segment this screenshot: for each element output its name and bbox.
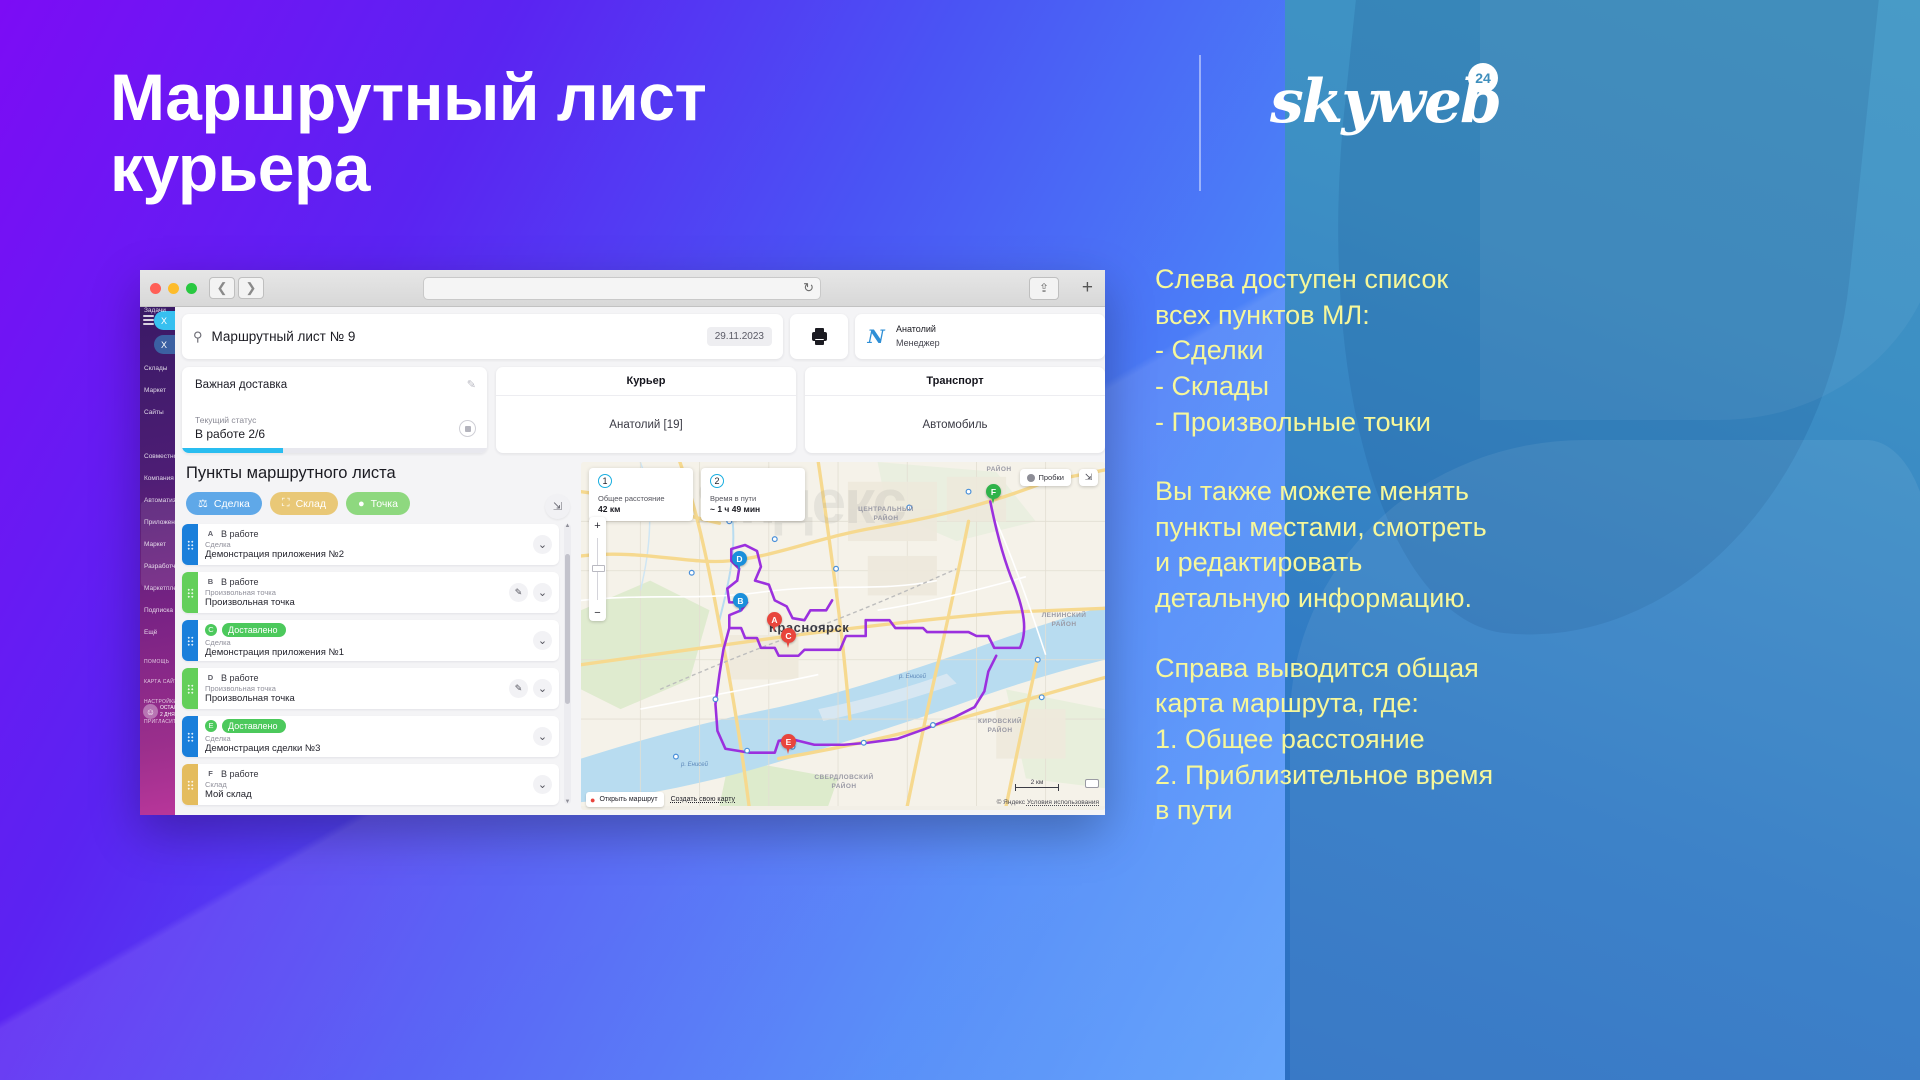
stop-icon[interactable] [459,420,476,437]
list-item[interactable]: A В работе Сделка Демонстрация приложени… [182,524,559,565]
logo-badge: 24 [1468,63,1498,93]
drag-handle[interactable] [182,620,198,661]
drag-handle[interactable] [182,764,198,805]
travel-time-value: ~ 1 ч 49 мин [710,504,796,514]
list-item-header: F В работе [205,769,533,779]
drag-handle[interactable] [182,572,198,613]
list-item-body: C Доставлено Сделка Демонстрация приложе… [198,623,533,658]
points-filters: ⚖ Сделка ⛶ Склад ● Точка [182,492,572,515]
scroll-up-arrow[interactable]: ▲ [564,523,571,529]
list-item-body: F В работе Склад Мой склад [198,769,533,801]
document-title-card: ⚲ Маршрутный лист № 9 29.11.2023 [182,314,783,359]
list-item-name: Демонстрация приложения №2 [205,549,533,560]
copy-line-11: карта маршрута, где: [1155,686,1555,722]
travel-time-badge: 2 Время в пути ~ 1 ч 49 мин [701,468,805,521]
copy-spacer-2 [1155,617,1555,651]
map-pin-f[interactable]: F [986,484,1001,504]
brand-logo: skyweb 24 [1270,57,1480,147]
transport-header: Транспорт [805,367,1105,396]
list-item-name: Демонстрация приложения №1 [205,647,533,658]
maximize-window-button[interactable] [186,283,197,294]
progress-bar [182,448,487,453]
points-heading: Пункты маршрутного листа [182,462,572,492]
points-panel: Пункты маршрутного листа ⚖ Сделка ⛶ Скла… [182,462,572,810]
drag-handle[interactable] [182,668,198,709]
sidebar-item-company[interactable]: Компания [144,475,174,482]
document-date-badge[interactable]: 29.11.2023 [707,327,772,346]
sidebar-item-marketplace[interactable]: Маркетплейс [144,585,175,592]
sidebar-caption-sitemap[interactable]: КАРТА САЙТА [144,679,175,685]
list-item-type: Произвольная точка [205,684,509,693]
minimize-window-button[interactable] [168,283,179,294]
printer-icon [812,328,827,345]
drag-handle[interactable] [182,524,198,565]
browser-window: ❮ ❯ ↻ ⇪ + X X Склады Маркет Сайты Задачи… [140,270,1105,815]
transport-card: Транспорт Автомобиль [805,367,1105,453]
status-value: В работе 2/6 [195,427,474,441]
user-name: Анатолий [896,324,936,334]
copy-line-13: 2. Приблизительное время [1155,758,1555,794]
list-item-name: Произвольная точка [205,693,509,704]
list-item-header: B В работе [205,577,509,587]
trial-line-1: ОСТАЛОСЬ [160,705,175,711]
copy-line-12: 1. Общее расстояние [1155,722,1555,758]
deal-icon: ⚖ [198,497,208,510]
chevron-down-icon[interactable]: ⌄ [533,679,552,698]
list-item-type: Склад [205,780,533,789]
copy-line-14: в пути [1155,793,1555,829]
hamburger-icon[interactable] [143,315,154,327]
map-attribution: © Яндекс Условия использования [997,799,1099,806]
filter-chip-warehouse-label: Склад [296,498,326,510]
total-distance-label: Общее расстояние [598,494,684,503]
chevron-down-icon[interactable]: ⌄ [533,631,552,650]
scrollbar-thumb [565,554,570,704]
chevron-down-icon[interactable]: ⌄ [533,583,552,602]
copy-line-9: детальную информацию. [1155,581,1555,617]
status-badge: В работе [221,673,259,683]
list-item[interactable]: C Доставлено Сделка Демонстрация приложе… [182,620,559,661]
map-scale-line [1015,787,1059,788]
list-item-letter: B [205,577,216,586]
map-pin-c-tail [786,640,791,648]
sidebar-item-market[interactable]: Маркет [144,387,166,394]
slide-description: Слева доступен список всех пунктов МЛ: -… [1155,262,1555,829]
map-pin-d[interactable]: D [732,551,747,571]
river-label-1: р. Енисей [681,762,708,768]
status-badge: Доставлено [222,623,286,637]
list-item-type: Сделка [205,734,533,743]
document-title: Маршрутный лист № 9 [212,329,356,344]
list-item-letter: F [205,769,216,778]
chevron-down-icon[interactable]: ⌄ [533,727,552,746]
list-item[interactable]: D В работе Произвольная точка Произвольн… [182,668,559,709]
region-label-leninsky: ЛЕНИНСКИЙ РАЙОН [1033,612,1095,630]
map-pin-d-tail [737,563,742,571]
region-label-kirovsky: КИРОВСКИЙ РАЙОН [969,718,1031,736]
skyweb-mark-icon: N [865,326,887,348]
status-label: Текущий статус [195,415,474,425]
user-role: Менеджер [896,338,940,348]
courier-value: Анатолий [19] [496,396,796,453]
copy-line-1: Слева доступен список [1155,262,1555,298]
map-fullscreen-button[interactable]: ⇲ [1079,469,1098,486]
list-item-type: Сделка [205,540,533,549]
list-item-body: A В работе Сделка Демонстрация приложени… [198,529,533,561]
region-label-central: ЦЕНТРАЛЬНЫЙ РАЙОН [851,506,921,524]
browser-chrome: ❮ ❯ ↻ ⇪ + [140,270,1105,307]
river-label-2: р. Енисей [899,674,926,680]
pencil-icon[interactable]: ✎ [467,378,476,391]
map-pin-c[interactable]: C [781,628,796,648]
copy-line-10: Справа выводится общая [1155,651,1555,687]
sidebar-item-more[interactable]: Ещё [144,629,157,636]
expand-icon[interactable]: ⇲ [545,494,570,519]
list-item-actions: ⌄ [533,631,559,650]
traffic-toggle-label: Пробки [1039,473,1065,482]
region-label-raion: РАЙОН [979,466,1019,475]
map-terms-link[interactable]: Условия использования [1027,799,1099,806]
document-toolbar: ⚲ Маршрутный лист № 9 29.11.2023 N Анато… [182,314,1105,359]
list-item-type: Произвольная точка [205,588,509,597]
list-item-actions: ✎ ⌄ [509,583,559,602]
address-bar[interactable]: ↻ [423,277,821,300]
map-scale-label: 2 км [1031,779,1044,786]
delivery-title: Важная доставка [195,379,474,391]
user-meta: Анатолий Менеджер [896,323,940,350]
map-zoom-control[interactable]: + − [589,517,606,621]
delivery-card: Важная доставка ✎ Текущий статус В работ… [182,367,487,453]
copy-line-8: и редактировать [1155,545,1555,581]
zoom-out-button[interactable]: − [589,604,606,621]
reload-icon[interactable]: ↻ [803,280,814,296]
page-title: Маршрутный лист курьера [110,62,870,205]
list-item-letter: D [205,673,216,682]
route-map[interactable]: Яндекс Красноярск ЦЕНТРАЛЬНЫЙ РАЙОН ЛЕНИ… [581,462,1105,810]
sidebar-caption-invite[interactable]: ПРИГЛАСИТЬ [144,719,175,725]
sidebar-item-subscription[interactable]: Подписка [144,607,173,614]
sidebar-caption-help[interactable]: ПОМОЩЬ [144,659,169,665]
map-pin-b-tail [738,605,743,613]
copy-line-3: - Сделки [1155,333,1555,369]
map-pin-icon: ● [358,498,365,510]
create-own-map-link[interactable]: Создать свою карту [671,796,735,803]
pencil-icon[interactable]: ✎ [509,583,528,602]
sidebar-item-tasks[interactable]: Задачи [144,307,166,314]
back-button[interactable]: ❮ [209,277,235,299]
list-item-letter: A [205,529,216,538]
print-button[interactable] [790,314,848,359]
sidebar-item-developers[interactable]: Разработчикам [144,563,175,570]
status-badge: В работе [221,529,259,539]
window-controls [150,283,197,294]
filter-chip-point-label: Точка [371,498,398,510]
open-route-label: Открыть маршрут [599,796,657,803]
map-scale: 2 км [1015,779,1059,788]
total-distance-badge: 1 Общее расстояние 42 км [589,468,693,521]
copy-spacer-1 [1155,440,1555,474]
keyboard-shortcut-icon[interactable] [1085,779,1099,788]
zoom-in-button[interactable]: + [589,517,606,534]
app-main: ⚲ Маршрутный лист № 9 29.11.2023 N Анато… [175,307,1105,815]
courier-header: Курьер [496,367,796,396]
list-item-body: E Доставлено Сделка Демонстрация сделки … [198,719,533,754]
sidebar-item-warehouses[interactable]: Склады [144,365,167,372]
map-pin-e-tail [786,746,791,754]
copy-line-5: - Произвольные точки [1155,405,1555,441]
list-item-actions: ⌄ [533,727,559,746]
new-tab-button[interactable]: + [1082,277,1093,299]
map-attribution-text: © Яндекс [997,799,1025,806]
pencil-icon[interactable]: ✎ [509,679,528,698]
list-item-actions: ✎ ⌄ [509,679,559,698]
list-item-header: E Доставлено [205,719,533,733]
map-pin-a-tail [772,624,777,632]
sidebar-pill-secondary[interactable]: X [154,335,175,354]
list-item[interactable]: B В работе Произвольная точка Произвольн… [182,572,559,613]
sidebar-item-applications[interactable]: Приложения [144,519,175,526]
route-icon: ⚲ [193,329,203,345]
filter-chip-deal[interactable]: ⚖ Сделка [186,492,262,515]
sidebar-item-market-2[interactable]: Маркет [144,541,166,548]
total-distance-value: 42 км [598,504,684,514]
user-card[interactable]: N Анатолий Менеджер [855,314,1105,359]
trial-line-2: 2 ДНЯ [160,712,175,718]
traffic-light-icon [1027,474,1035,482]
avatar[interactable]: ☺ [143,704,158,719]
logo-divider [1199,55,1201,191]
map-pin-icon: ● [590,795,595,805]
map-pin-f-tail [991,496,996,504]
share-icon[interactable]: ⇪ [1029,277,1059,300]
logo-wordmark: skyweb [1270,67,1500,137]
sidebar-item-automation[interactable]: Автоматизация [144,497,175,504]
chevron-down-icon[interactable]: ⌄ [533,775,552,794]
copy-line-6: Вы также можете менять [1155,474,1555,510]
close-window-button[interactable] [150,283,161,294]
points-and-map-row: Пункты маршрутного листа ⚖ Сделка ⛶ Скла… [182,462,1105,810]
list-item-body: B В работе Произвольная точка Произвольн… [198,577,509,609]
map-pin-e[interactable]: E [781,734,796,754]
list-item-type: Сделка [205,638,533,647]
travel-time-label: Время в пути [710,494,796,503]
list-item-body: D В работе Произвольная точка Произвольн… [198,673,509,705]
warehouse-icon: ⛶ [282,497,290,510]
list-item-letter: E [205,720,217,732]
traffic-toggle-button[interactable]: Пробки [1020,469,1072,486]
zoom-slider[interactable] [589,534,606,604]
open-route-button[interactable]: ● Открыть маршрут [586,792,664,807]
list-item-letter: C [205,624,217,636]
map-pin-a[interactable]: A [767,612,782,632]
copy-line-7: пункты местами, смотреть [1155,510,1555,546]
status-badge: Доставлено [222,719,286,733]
forward-button[interactable]: ❯ [238,277,264,299]
app-sidebar: X X Склады Маркет Сайты Задачи Совместно… [140,307,175,815]
filter-chip-warehouse[interactable]: ⛶ Склад [270,492,338,515]
filter-chip-point[interactable]: ● Точка [346,492,410,515]
badge-number-1: 1 [598,474,612,488]
scroll-down-arrow[interactable]: ▼ [564,799,571,805]
sidebar-item-collaborate[interactable]: Совместно [144,453,175,460]
list-item-header: C Доставлено [205,623,533,637]
list-item-name: Мой склад [205,789,533,800]
list-item-actions: ⌄ [533,775,559,794]
copy-line-2: всех пунктов МЛ: [1155,298,1555,334]
app-viewport: X X Склады Маркет Сайты Задачи Совместно… [140,307,1105,815]
drag-handle[interactable] [182,716,198,757]
list-item-actions: ⌄ [533,535,559,554]
filter-chip-deal-label: Сделка [214,498,250,510]
list-item[interactable]: E Доставлено Сделка Демонстрация сделки … [182,716,559,757]
transport-value: Автомобиль [805,396,1105,453]
points-list-scrollbar[interactable]: ▲ ▼ [564,524,571,804]
list-item-header: A В работе [205,529,533,539]
trial-notice: ОСТАЛОСЬ 2 ДНЯ [160,705,175,720]
info-cards-row: Важная доставка ✎ Текущий статус В работ… [182,367,1105,453]
map-pin-b[interactable]: B [733,593,748,613]
status-badge: В работе [221,769,259,779]
copy-line-4: - Склады [1155,369,1555,405]
navigation-buttons: ❮ ❯ [209,277,264,299]
status-badge: В работе [221,577,259,587]
points-list[interactable]: A В работе Сделка Демонстрация приложени… [182,524,572,804]
list-item[interactable]: F В работе Склад Мой склад ⌄ [182,764,559,805]
courier-card: Курьер Анатолий [19] [496,367,796,453]
list-item-name: Демонстрация сделки №3 [205,743,533,754]
badge-number-2: 2 [710,474,724,488]
list-item-name: Произвольная точка [205,597,509,608]
sidebar-item-sites[interactable]: Сайты [144,409,164,416]
list-item-header: D В работе [205,673,509,683]
chevron-down-icon[interactable]: ⌄ [533,535,552,554]
